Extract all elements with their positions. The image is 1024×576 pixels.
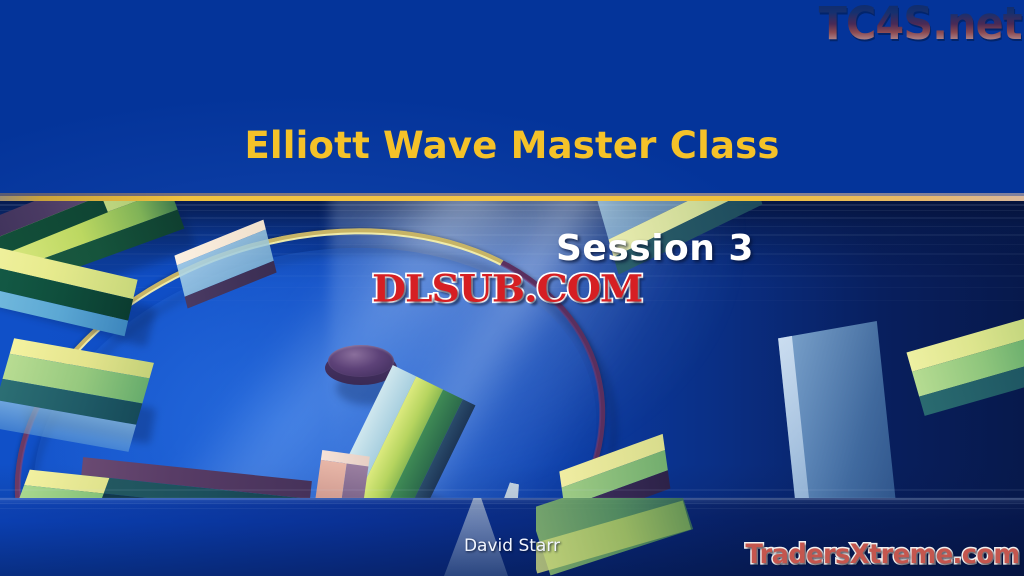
tc4s-watermark: TC4S.net bbox=[819, 0, 1022, 50]
dlsub-watermark: DLSUB.COM bbox=[372, 266, 642, 311]
page-title: Elliott Wave Master Class bbox=[0, 124, 1024, 167]
slide-header-band: TC4S.net TC4S.net Elliott Wave Master Cl… bbox=[0, 0, 1024, 196]
session-label: Session 3 bbox=[556, 228, 754, 269]
tradersxtreme-logo: TradersXtreme.com bbox=[746, 539, 1020, 570]
knob-top bbox=[328, 345, 394, 377]
presentation-slide: TC4S.net TC4S.net Elliott Wave Master Cl… bbox=[0, 0, 1024, 576]
